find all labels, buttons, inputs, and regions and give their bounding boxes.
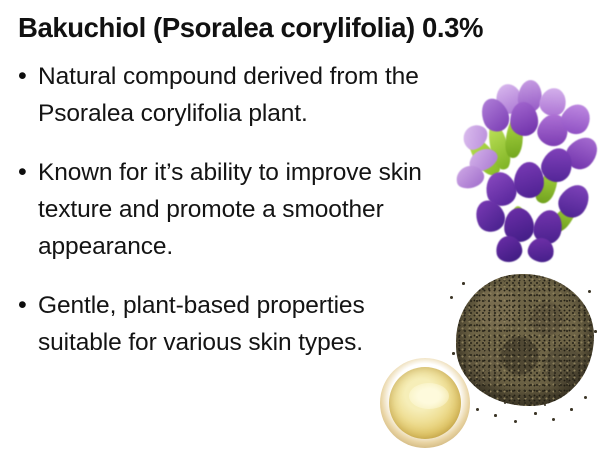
bowl-glass-rim (380, 358, 470, 448)
bullet-text-benefit: Known for it’s ability to improve skin t… (38, 154, 444, 265)
bullet-dot-icon: • (14, 58, 38, 95)
list-item: • Gentle, plant-based properties suitabl… (14, 287, 444, 361)
bullet-dot-icon: • (14, 287, 38, 324)
slide-canvas: Bakuchiol (Psoralea corylifolia) 0.3% • … (0, 0, 600, 450)
bullet-text-suitability: Gentle, plant-based properties suitable … (38, 287, 444, 361)
bakuchiol-seed-pile-photo (448, 268, 600, 428)
list-item: • Natural compound derived from the Psor… (14, 58, 444, 132)
oil-surface (389, 367, 461, 439)
psoralea-corylifolia-flower-photo (452, 78, 600, 268)
page-title: Bakuchiol (Psoralea corylifolia) 0.3% (18, 11, 590, 45)
list-item: • Known for it’s ability to improve skin… (14, 154, 444, 265)
oil-highlight (409, 383, 449, 409)
bakuchiol-oil-bowl-photo (380, 358, 470, 448)
bullet-dot-icon: • (14, 154, 38, 191)
bullet-list: • Natural compound derived from the Psor… (14, 58, 444, 361)
seed-grain-texture (456, 274, 594, 406)
bullet-text-origin: Natural compound derived from the Psoral… (38, 58, 444, 132)
seed-mass (456, 274, 594, 406)
